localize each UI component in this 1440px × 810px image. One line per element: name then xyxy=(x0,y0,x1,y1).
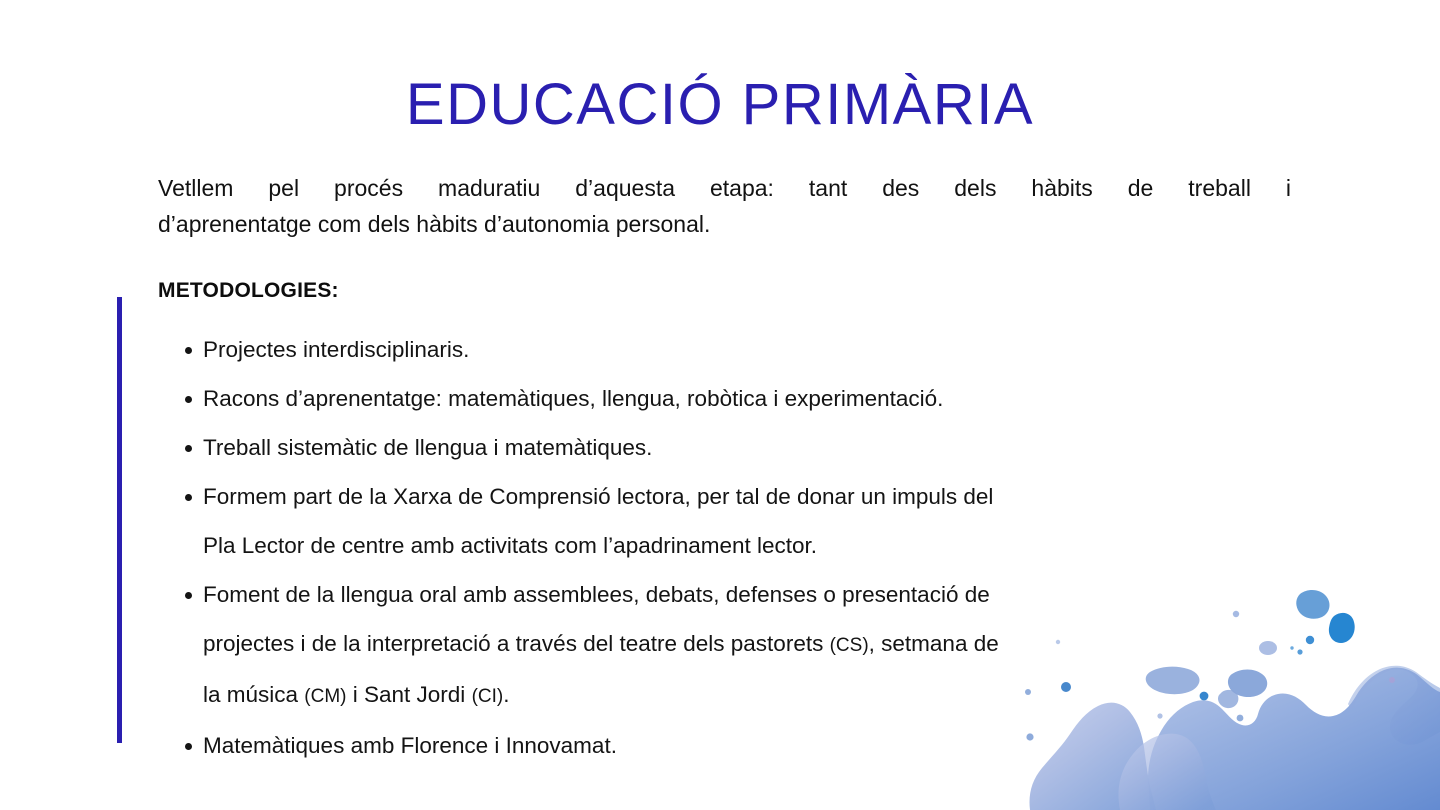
list-item: Racons d’aprenentatge: matemàtiques, lle… xyxy=(158,374,1278,423)
list-item: Treball sistemàtic de llengua i matemàti… xyxy=(158,423,1278,472)
intro-line-2: d’aprenentatge com dels hàbits d’autonom… xyxy=(158,206,1291,242)
page-title: EDUCACIÓ PRIMÀRIA xyxy=(0,74,1440,136)
abbreviation-ci: (CI) xyxy=(472,686,504,707)
list-item-line-d: i Sant Jordi xyxy=(347,682,472,707)
vertical-accent-bar xyxy=(117,297,122,743)
list-item: Projectes interdisciplinaris. xyxy=(158,325,1278,374)
list-item-line-a: projectes i de la interpretació a través… xyxy=(203,631,830,656)
methodologies-list: Projectes interdisciplinaris. Racons d’a… xyxy=(158,325,1278,770)
list-item-line: Formem part de la Xarxa de Comprensió le… xyxy=(203,484,993,509)
list-item-line: Foment de la llengua oral amb assemblees… xyxy=(203,582,990,607)
abbreviation-cm: (CM) xyxy=(304,686,346,707)
list-item-line-b: , setmana de xyxy=(869,631,999,656)
methodologies-heading: METODOLOGIES: xyxy=(158,277,1278,305)
methodologies-section: METODOLOGIES: Projectes interdisciplinar… xyxy=(158,277,1278,770)
slide-canvas: EDUCACIÓ PRIMÀRIA Vetllem pel procés mad… xyxy=(0,0,1440,810)
intro-line-1: Vetllem pel procés maduratiu d’aquesta e… xyxy=(158,170,1291,206)
list-item-line-e: . xyxy=(503,682,509,707)
list-item: Foment de la llengua oral amb assemblees… xyxy=(158,570,1278,721)
abbreviation-cs: (CS) xyxy=(830,635,869,656)
list-item: Matemàtiques amb Florence i Innovamat. xyxy=(158,721,1278,770)
list-item-line-c: la música xyxy=(203,682,304,707)
list-item: Formem part de la Xarxa de Comprensió le… xyxy=(158,472,1278,570)
intro-paragraph: Vetllem pel procés maduratiu d’aquesta e… xyxy=(158,170,1291,242)
list-item-line: Pla Lector de centre amb activitats com … xyxy=(203,533,817,558)
